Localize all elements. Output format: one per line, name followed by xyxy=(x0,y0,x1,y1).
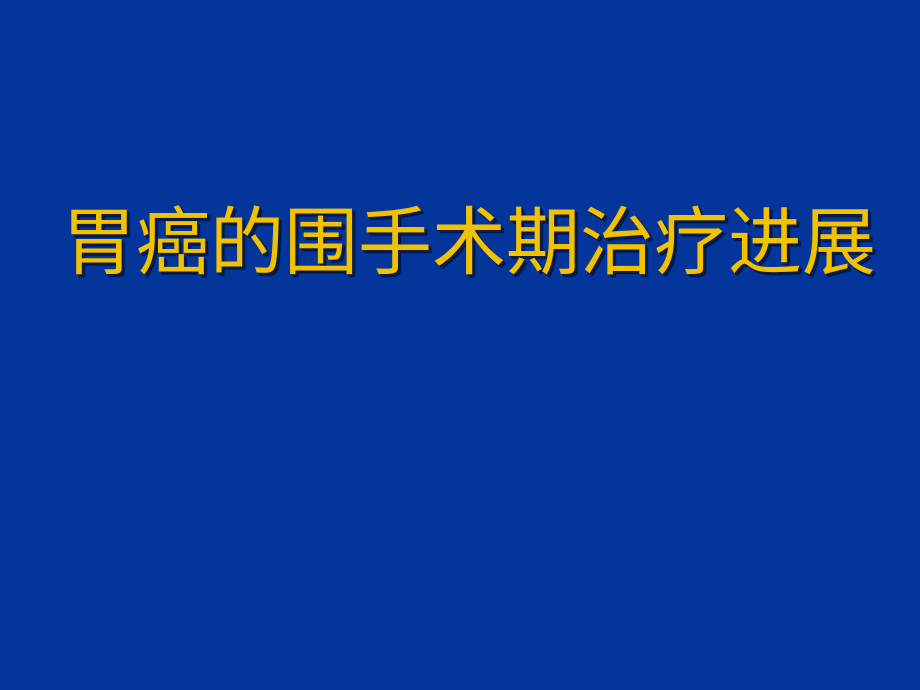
page-title: 胃癌的围手术期治疗进展 xyxy=(62,206,876,280)
presentation-slide: 胃癌的围手术期治疗进展 xyxy=(0,0,920,690)
slide-title-placeholder[interactable]: 胃癌的围手术期治疗进展 xyxy=(62,188,862,298)
slide-body-placeholder[interactable] xyxy=(62,320,862,630)
